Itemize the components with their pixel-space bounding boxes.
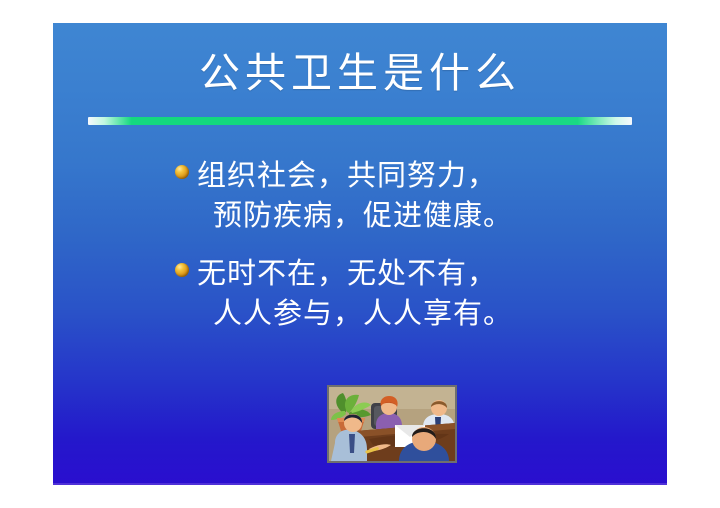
title-underline-rule [88,117,632,125]
list-item: 无时不在，无处不有， 人人参与，人人享有。 [175,253,595,333]
bullet-line-2: 预防疾病，促进健康。 [197,195,595,235]
bullet-line-2: 人人参与，人人享有。 [197,293,595,333]
page-title: 公共卫生是什么 [199,51,521,96]
bullet-text-block: 无时不在，无处不有， 人人参与，人人享有。 [175,253,595,333]
business-meeting-clipart-image [327,385,457,463]
list-item: 组织社会，共同努力， 预防疾病，促进健康。 [175,155,595,235]
bullet-line-1: 组织社会，共同努力， [197,158,497,192]
slide-body: 组织社会，共同努力， 预防疾病，促进健康。 无时不在，无处不有， 人人参与，人人… [175,155,595,351]
gold-sphere-bullet-icon [175,165,189,179]
bullet-text-block: 组织社会，共同努力， 预防疾病，促进健康。 [175,155,595,235]
slide-title: 公共卫生是什么 [53,51,667,96]
slide-canvas: 公共卫生是什么 组织社会，共同努力， 预防疾病，促进健康。 无时不在，无处不有，… [53,23,667,485]
bullet-line-1: 无时不在，无处不有， [197,256,497,290]
gold-sphere-bullet-icon [175,263,189,277]
